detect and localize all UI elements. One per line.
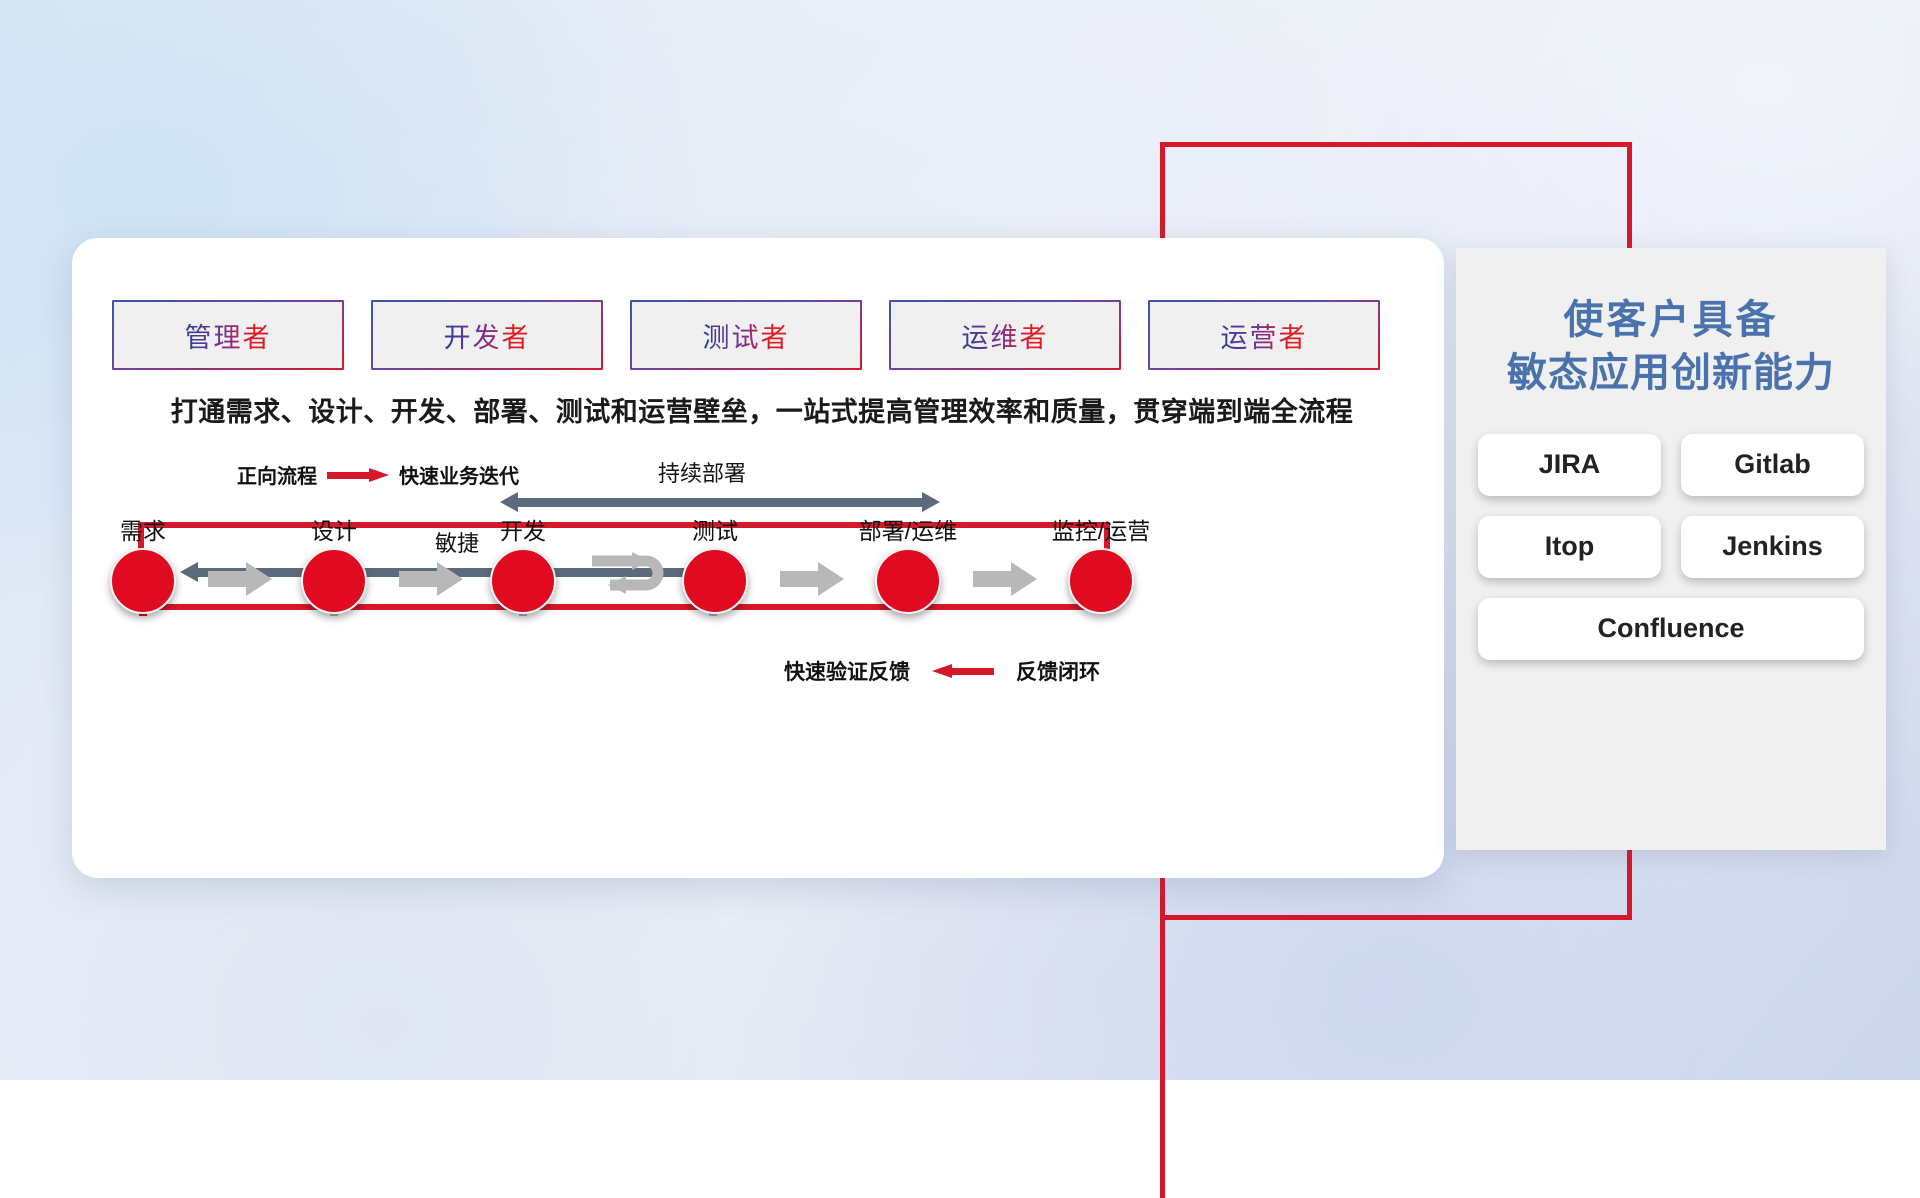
pipeline-node-label: 测试 (692, 512, 738, 546)
flow-arrow-icon (208, 562, 272, 596)
pipeline-node-label: 设计 (311, 512, 357, 546)
outcome-title-line-2: 敏态应用创新能力 (1456, 347, 1886, 400)
pipeline-node-design[interactable]: 设计 (301, 548, 367, 614)
role-chip-label: 管理者 (185, 316, 272, 355)
tool-chip-gitlab[interactable]: Gitlab (1681, 434, 1864, 496)
pipeline-node-dot (301, 548, 367, 614)
pipeline-node-dot (490, 548, 556, 614)
role-chip-label: 运营者 (1221, 316, 1308, 355)
tool-chip-jira[interactable]: JIRA (1478, 434, 1661, 496)
pipeline-node-dot (110, 548, 176, 614)
outcome-panel-title: 使客户具备 敏态应用创新能力 (1456, 294, 1886, 400)
pipeline-node-label: 监控/运营 (1052, 512, 1150, 546)
pipeline-node-requirement[interactable]: 需求 (110, 548, 176, 614)
tool-chip-label: Itop (1545, 531, 1594, 562)
tool-chip-itop[interactable]: Itop (1478, 516, 1661, 578)
pipeline-node-monitor-operations[interactable]: 监控/运营 (1068, 548, 1134, 614)
legend-feedback-loop: 快速验证反馈 反馈闭环 (784, 656, 1100, 686)
pipeline-node-test[interactable]: 测试 (682, 548, 748, 614)
pipeline-node-label: 部署/运维 (859, 512, 957, 546)
outer-frame-top (1160, 142, 1632, 147)
pipeline-node-dot (682, 548, 748, 614)
pipeline-node-label: 开发 (500, 512, 546, 546)
tool-chip-label: Gitlab (1734, 449, 1811, 480)
main-card: 管理者 开发者 测试者 运维者 运营者 打通需求、设计、开发、部署、测试和运营壁… (72, 238, 1444, 878)
tool-chip-label: Confluence (1597, 613, 1744, 644)
tool-chip-jenkins[interactable]: Jenkins (1681, 516, 1864, 578)
flow-arrow-icon (780, 562, 844, 596)
pipeline-node-dot (1068, 548, 1134, 614)
outer-frame-bottom (1160, 915, 1632, 920)
pipeline-node-dot (875, 548, 941, 614)
flow-arrow-icon (399, 562, 463, 596)
tool-chip-grid: JIRA Gitlab Itop Jenkins Confluence (1478, 434, 1864, 660)
tool-chip-label: Jenkins (1722, 531, 1823, 562)
pipeline-node-develop[interactable]: 开发 (490, 548, 556, 614)
pipeline-node-label: 需求 (120, 512, 166, 546)
tool-chip-confluence[interactable]: Confluence (1478, 598, 1864, 660)
legend-feedback-right-label: 反馈闭环 (1016, 656, 1100, 686)
role-chip-label: 运维者 (962, 316, 1049, 355)
outcome-panel: 使客户具备 敏态应用创新能力 JIRA Gitlab Itop Jenkins … (1456, 248, 1886, 850)
legend-feedback-left-label: 快速验证反馈 (784, 656, 910, 686)
outcome-title-line-1: 使客户具备 (1456, 294, 1886, 347)
flow-arrow-icon (973, 562, 1037, 596)
loop-arrow-icon (588, 543, 674, 603)
role-chip-label: 测试者 (703, 316, 790, 355)
arrow-left-red-icon (932, 664, 994, 678)
tool-chip-label: JIRA (1539, 449, 1601, 480)
pipeline-node-deploy-ops[interactable]: 部署/运维 (875, 548, 941, 614)
role-chip-label: 开发者 (444, 316, 531, 355)
